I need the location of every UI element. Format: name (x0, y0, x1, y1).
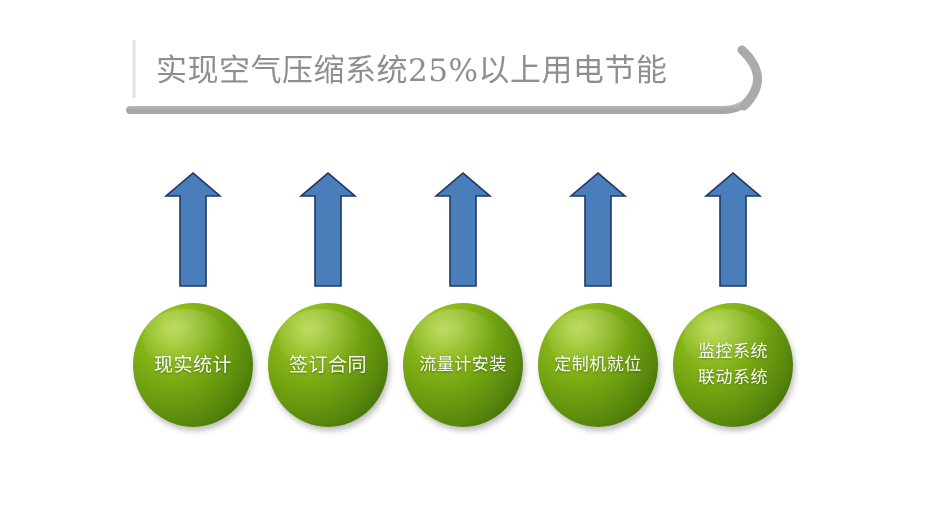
process-node-label: 现实统计 (150, 352, 236, 378)
process-node-1[interactable]: 现实统计 (133, 303, 253, 427)
up-arrow-icon-3 (434, 171, 492, 289)
up-arrow-icon (704, 171, 762, 289)
slide-canvas: 实现空气压缩系统25%以上用电节能 现实统计 签订合同 流量计安装 定制机 (0, 0, 945, 529)
up-arrow-icon (569, 171, 627, 289)
process-node-3[interactable]: 流量计安装 (403, 303, 523, 427)
process-node-5[interactable]: 监控系统 联动系统 (673, 303, 793, 427)
up-arrow-icon-5 (704, 171, 762, 289)
up-arrow-icon-1 (164, 171, 222, 289)
up-arrow-icon (434, 171, 492, 289)
up-arrow-icon-4 (569, 171, 627, 289)
up-arrow-icon (299, 171, 357, 289)
process-node-label: 定制机就位 (550, 352, 646, 378)
process-node-2[interactable]: 签订合同 (268, 303, 388, 427)
process-node-label: 流量计安装 (415, 352, 511, 378)
title-banner: 实现空气压缩系统25%以上用电节能 (126, 36, 772, 124)
page-title: 实现空气压缩系统25%以上用电节能 (156, 48, 756, 94)
process-node-label: 签订合同 (285, 352, 371, 378)
process-node-4[interactable]: 定制机就位 (538, 303, 658, 427)
process-node-label: 监控系统 联动系统 (694, 339, 772, 391)
up-arrow-icon (164, 171, 222, 289)
up-arrow-icon-2 (299, 171, 357, 289)
